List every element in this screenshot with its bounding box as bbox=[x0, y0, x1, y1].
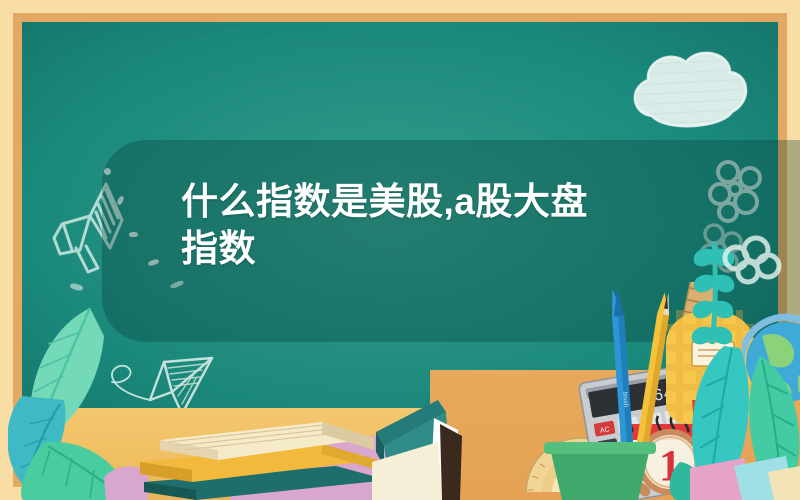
page-title-line-2: 指数 bbox=[181, 228, 256, 269]
cover-canvas: 什么指数是美股,a股大盘指数 bbox=[0, 0, 800, 500]
paper-plane-icon bbox=[108, 352, 220, 424]
page-title: 什么指数是美股,a股大盘指数 bbox=[181, 178, 651, 272]
page-title-line-1: 什么指数是美股,a股大盘 bbox=[181, 181, 588, 222]
cloud-icon bbox=[622, 44, 754, 152]
